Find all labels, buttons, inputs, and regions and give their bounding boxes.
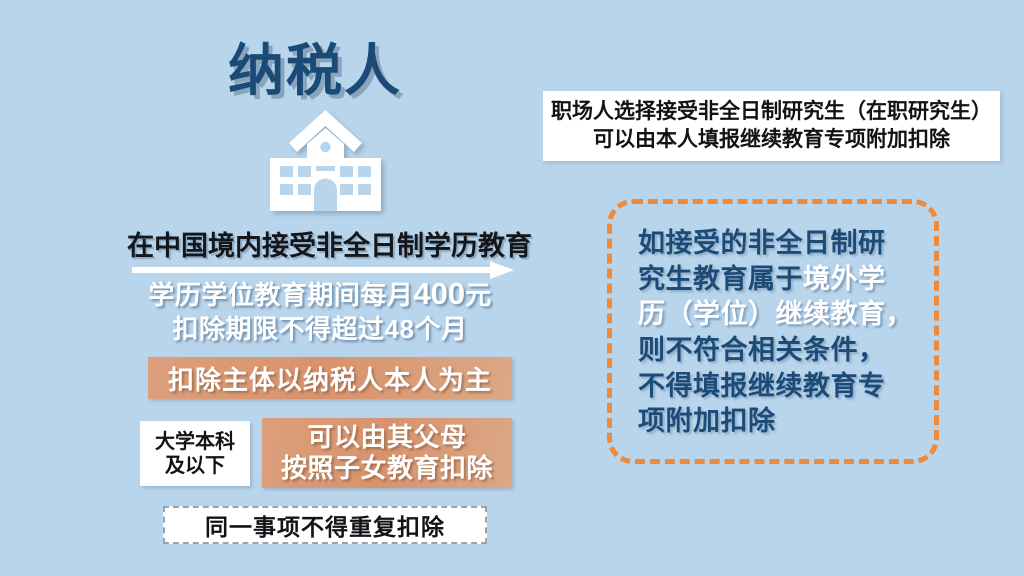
parents-deduction-bar: 可以由其父母 按照子女教育扣除 bbox=[262, 418, 512, 488]
deduction-subject-bar: 扣除主体以纳税人本人为主 bbox=[148, 357, 512, 399]
overseas-education-callout: 如接受的非全日制研 究生教育属于境外学 历（学位）继续教育， 则不符合相关条件，… bbox=[607, 199, 939, 464]
graduate-student-note: 职场人选择接受非全日制研究生（在职研究生） 可以由本人填报继续教育专项附加扣除 bbox=[543, 91, 1000, 161]
amount-number: 400 bbox=[413, 276, 465, 311]
callout-line: 如接受的非全日制研 bbox=[638, 226, 914, 262]
slide-canvas: 纳税人 bbox=[0, 0, 1024, 576]
degree-level-line-2: 及以下 bbox=[165, 454, 225, 478]
deduction-subject-label: 扣除主体以纳税人本人为主 bbox=[168, 360, 492, 397]
callout-dark-text: 不得填报继续教育专 bbox=[638, 371, 886, 401]
callout-line: 项附加扣除 bbox=[638, 404, 914, 440]
graduate-student-note-line-1: 职场人选择接受非全日制研究生（在职研究生） bbox=[551, 98, 992, 126]
amount-line-1: 学历学位教育期间每月400元 bbox=[120, 275, 520, 313]
page-title: 纳税人 bbox=[228, 26, 402, 107]
callout-highlight-text: 历（学位）继续教育， bbox=[638, 299, 913, 329]
no-double-deduction-box: 同一事项不得重复扣除 bbox=[163, 506, 487, 544]
graduate-student-note-line-2: 可以由本人填报继续教育专项附加扣除 bbox=[593, 126, 950, 154]
left-heading: 在中国境内接受非全日制学历教育 bbox=[127, 224, 515, 263]
degree-level-line-1: 大学本科 bbox=[155, 430, 235, 454]
degree-level-label: 大学本科 及以下 bbox=[140, 421, 250, 486]
school-building-icon bbox=[258, 108, 393, 213]
amount-prefix: 学历学位教育期间每月 bbox=[148, 280, 413, 310]
no-double-deduction-label: 同一事项不得重复扣除 bbox=[205, 508, 445, 542]
parents-deduction-line-1: 可以由其父母 bbox=[307, 422, 466, 453]
amount-suffix: 元 bbox=[465, 280, 492, 310]
amount-line-2: 扣除期限不得超过48个月 bbox=[120, 313, 520, 345]
parents-deduction-line-2: 按照子女教育扣除 bbox=[281, 453, 493, 484]
callout-line: 历（学位）继续教育， bbox=[638, 297, 914, 333]
callout-dark-text: 如接受的非全日制研 bbox=[638, 228, 886, 258]
callout-dark-text: 则不符合相关条件， bbox=[638, 335, 886, 365]
callout-highlight-text: 境外学 bbox=[803, 264, 886, 294]
callout-line: 不得填报继续教育专 bbox=[638, 369, 914, 405]
callout-line: 究生教育属于境外学 bbox=[638, 262, 914, 298]
callout-dark-text: 项附加扣除 bbox=[638, 406, 776, 436]
callout-line: 则不符合相关条件， bbox=[638, 333, 914, 369]
left-amount-block: 学历学位教育期间每月400元 扣除期限不得超过48个月 bbox=[120, 275, 520, 346]
callout-dark-text: 究生教育属于 bbox=[638, 264, 803, 294]
